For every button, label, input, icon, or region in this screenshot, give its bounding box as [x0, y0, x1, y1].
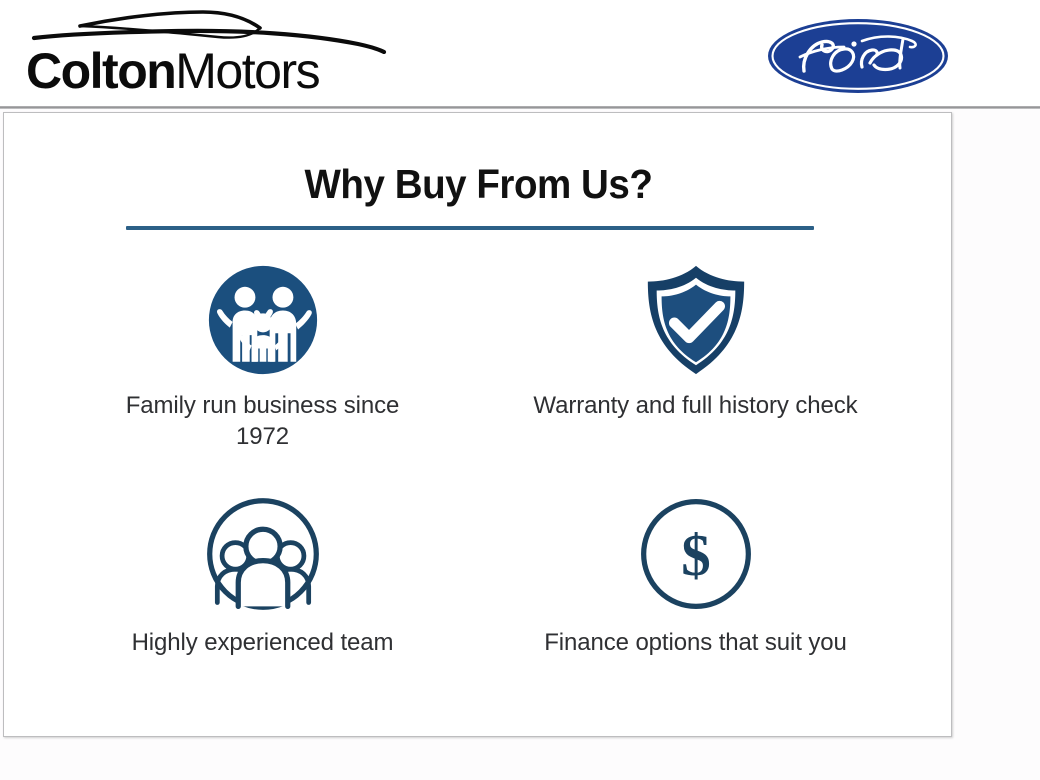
- feature-item-finance: $ Finance options that suit you: [497, 492, 894, 701]
- header-divider: [0, 106, 1040, 109]
- page-title: Why Buy From Us?: [32, 161, 924, 208]
- svg-text:$: $: [681, 522, 711, 588]
- team-group-icon: [201, 492, 325, 616]
- feature-item-warranty: Warranty and full history check: [497, 261, 894, 470]
- ford-oval-logo[interactable]: [766, 17, 950, 95]
- feature-item-team: Highly experienced team: [64, 492, 461, 701]
- dollar-sign-icon: $: [634, 492, 758, 616]
- why-buy-card: Why Buy From Us?: [3, 112, 952, 737]
- feature-label-finance: Finance options that suit you: [531, 628, 861, 659]
- brand-name-light: Motors: [175, 43, 319, 99]
- feature-item-family: Family run business since 1972: [64, 261, 461, 470]
- brand-wordmark: ColtonMotors: [26, 42, 398, 100]
- brand-name-bold: Colton: [26, 43, 175, 99]
- feature-grid: Family run business since 1972 Warranty …: [64, 261, 894, 701]
- colton-motors-logo[interactable]: ColtonMotors: [20, 6, 400, 104]
- title-underline: [126, 226, 814, 230]
- feature-label-team: Highly experienced team: [98, 628, 428, 659]
- page-header: ColtonMotors: [0, 0, 1040, 108]
- shield-check-icon: [637, 261, 755, 379]
- feature-label-warranty: Warranty and full history check: [531, 391, 861, 422]
- family-icon: [204, 261, 322, 379]
- feature-label-family: Family run business since 1972: [98, 391, 428, 452]
